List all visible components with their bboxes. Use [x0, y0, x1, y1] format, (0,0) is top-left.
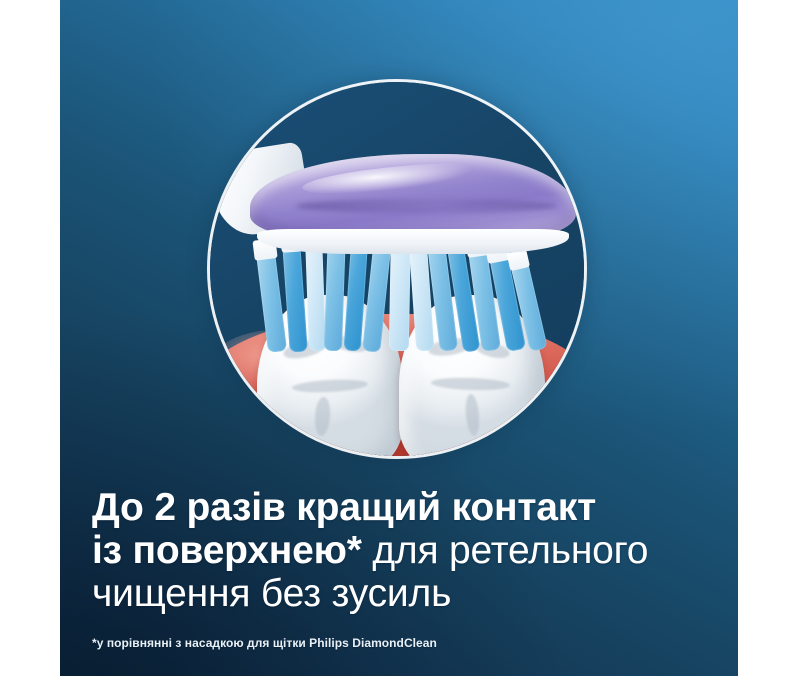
copy-block: До 2 разів кращий контактіз поверхнею* д…	[92, 486, 712, 651]
promo-panel: До 2 разів кращий контактіз поверхнею* д…	[60, 0, 738, 676]
tooth-groove	[431, 376, 510, 391]
headline: До 2 разів кращий контактіз поверхнею* д…	[92, 486, 712, 615]
headline-asterisk: *	[347, 529, 362, 572]
brush-head-shadow	[296, 199, 557, 213]
headline-line-1: До 2 разів кращий контакт	[92, 486, 596, 529]
brush-head-highlight	[301, 157, 505, 201]
tooth-groove	[464, 393, 481, 436]
headline-line-2-rest: для ретельного	[362, 529, 649, 572]
headline-line-2-bold: із поверхнею	[92, 529, 347, 572]
headline-line-3: чищення без зусиль	[92, 572, 451, 615]
brush-head-plate	[257, 229, 569, 253]
bristle-tuft	[282, 243, 307, 352]
promo-page: До 2 разів кращий контактіз поверхнею* д…	[0, 0, 800, 676]
hero-illustration	[210, 82, 584, 456]
footnote: *у порівнянні з насадкою для щітки Phili…	[92, 635, 712, 651]
hero-image-circle	[210, 82, 584, 456]
tooth-groove	[314, 397, 331, 437]
brush-head	[217, 146, 576, 247]
tooth-groove	[291, 378, 367, 394]
